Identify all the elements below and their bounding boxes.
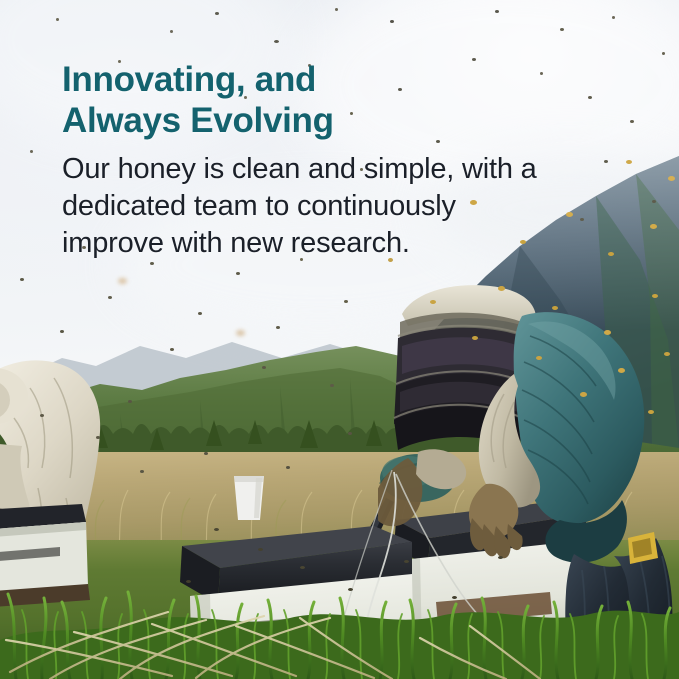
banner-subcopy: Our honey is clean and simple, with a de…	[62, 151, 602, 262]
marketing-banner-image: Innovating, and Always Evolving Our hone…	[0, 0, 679, 679]
foreground-grass	[0, 520, 679, 679]
headline-line-1: Innovating, and	[62, 60, 316, 99]
subcopy-line-1: Our honey is clean and simple, with a	[62, 153, 537, 185]
subcopy-line-3: improve with new research.	[62, 227, 410, 259]
page-title: Innovating, and Always Evolving	[62, 60, 602, 142]
white-bucket	[228, 472, 270, 524]
headline-line-2: Always Evolving	[62, 101, 334, 140]
banner-copy: Innovating, and Always Evolving Our hone…	[62, 60, 602, 262]
subcopy-line-2: dedicated team to continuously	[62, 190, 456, 222]
